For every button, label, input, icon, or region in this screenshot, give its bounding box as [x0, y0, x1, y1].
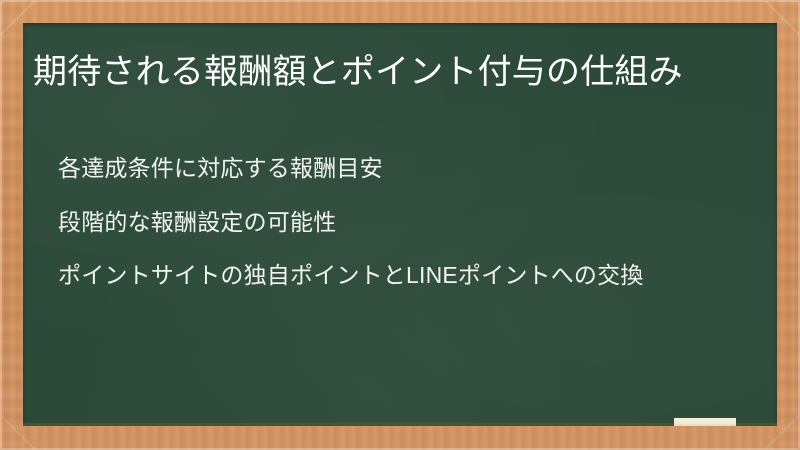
blackboard-slide: 期待される報酬額とポイント付与の仕組み 各達成条件に対応する報酬目安 段階的な報… — [0, 0, 800, 450]
board-bottom-edge — [23, 423, 777, 426]
bullet-item-3: ポイントサイトの独自ポイントとLINEポイントへの交換 — [58, 259, 748, 292]
chalk-eraser-icon — [674, 418, 736, 426]
bullet-list: 各達成条件に対応する報酬目安 段階的な報酬設定の可能性 ポイントサイトの独自ポイ… — [58, 152, 748, 292]
bullet-item-1: 各達成条件に対応する報酬目安 — [58, 152, 748, 185]
chalkboard-surface: 期待される報酬額とポイント付与の仕組み 各達成条件に対応する報酬目安 段階的な報… — [23, 23, 777, 426]
slide-title: 期待される報酬額とポイント付与の仕組み — [33, 50, 749, 94]
bullet-item-2: 段階的な報酬設定の可能性 — [58, 206, 748, 239]
